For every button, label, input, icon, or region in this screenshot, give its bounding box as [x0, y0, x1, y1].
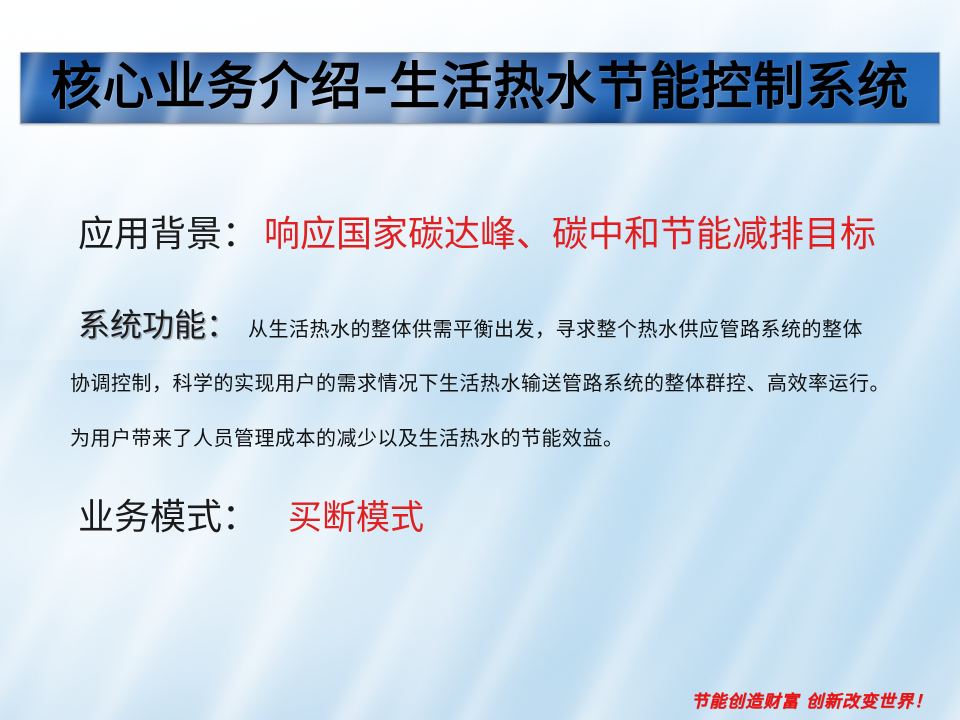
business-model-value: 买断模式 — [288, 500, 424, 537]
system-function-line-3-row: 为用户带来了人员管理成本的减少以及生活热水的节能效益。 — [70, 422, 624, 451]
footer-slogan: 节能创造财富 创新改变世界！ — [691, 687, 932, 712]
application-background-label: 应用背景： — [78, 214, 258, 254]
section-business-model: 业务模式：买断模式 — [78, 488, 424, 540]
system-function-label: 系统功能： — [78, 307, 238, 343]
system-function-line-2-row: 协调控制，科学的实现用户的需求情况下生活热水输送管路系统的整体群控、高效率运行。 — [70, 367, 890, 396]
system-function-line-3: 为用户带来了人员管理成本的减少以及生活热水的节能效益。 — [70, 428, 624, 450]
slide-content: 应用背景：响应国家碳达峰、碳中和节能减排目标 系统功能：从生活热水的整体供需平衡… — [0, 0, 960, 720]
application-background-value: 响应国家碳达峰、碳中和节能减排目标 — [264, 214, 876, 254]
slide-canvas: 核心业务介绍–生活热水节能控制系统 应用背景：响应国家碳达峰、碳中和节能减排目标… — [0, 0, 960, 720]
system-function-line-2: 协调控制，科学的实现用户的需求情况下生活热水输送管路系统的整体群控、高效率运行。 — [70, 373, 890, 395]
section-system-function: 系统功能：从生活热水的整体供需平衡出发，寻求整个热水供应管路系统的整体 — [78, 300, 863, 346]
system-function-line-1: 从生活热水的整体供需平衡出发，寻求整个热水供应管路系统的整体 — [248, 319, 863, 341]
business-model-label: 业务模式： — [78, 497, 258, 537]
section-application-background: 应用背景：响应国家碳达峰、碳中和节能减排目标 — [78, 205, 876, 257]
